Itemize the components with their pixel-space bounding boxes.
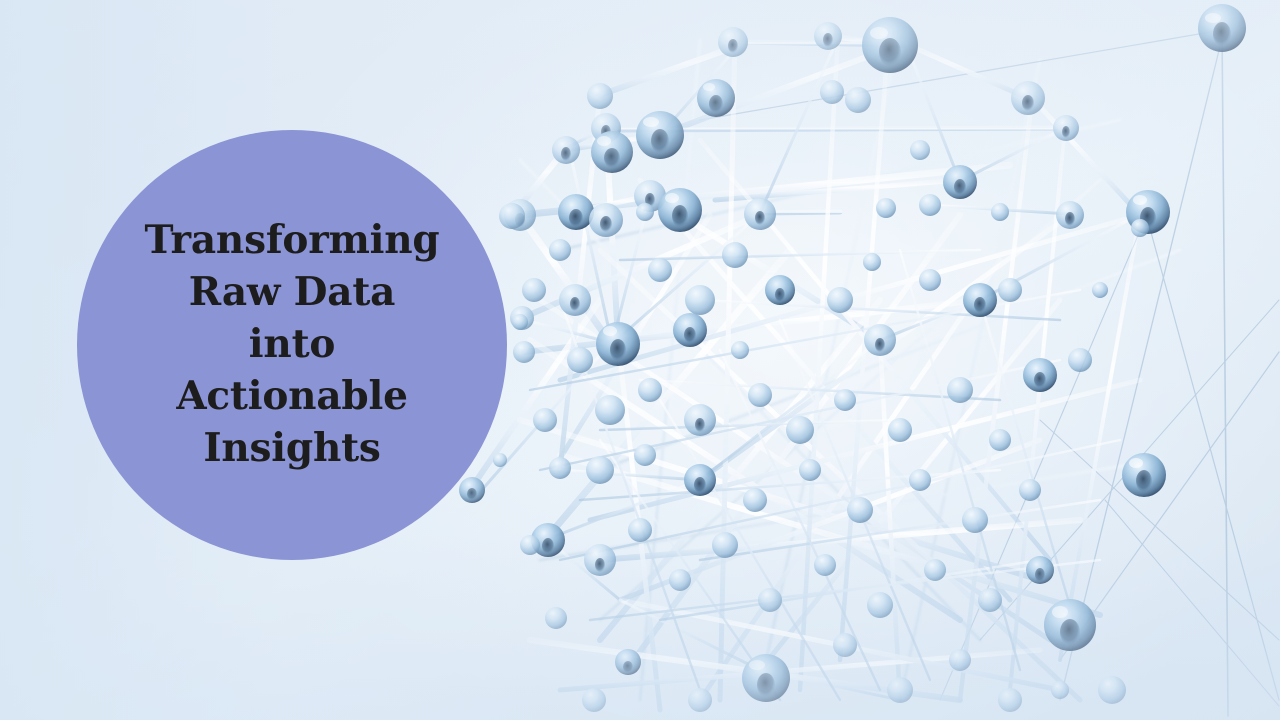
page-title: TransformingRaw Data intoActionableInsig… — [142, 215, 442, 474]
title-line: Insights — [203, 425, 380, 471]
title-line: Transforming — [145, 217, 440, 263]
title-line: Actionable — [176, 373, 407, 419]
slide-canvas: TransformingRaw Data intoActionableInsig… — [0, 0, 1280, 720]
title-circle-badge: TransformingRaw Data intoActionableInsig… — [77, 130, 507, 560]
title-line: Raw Data into — [189, 269, 396, 367]
